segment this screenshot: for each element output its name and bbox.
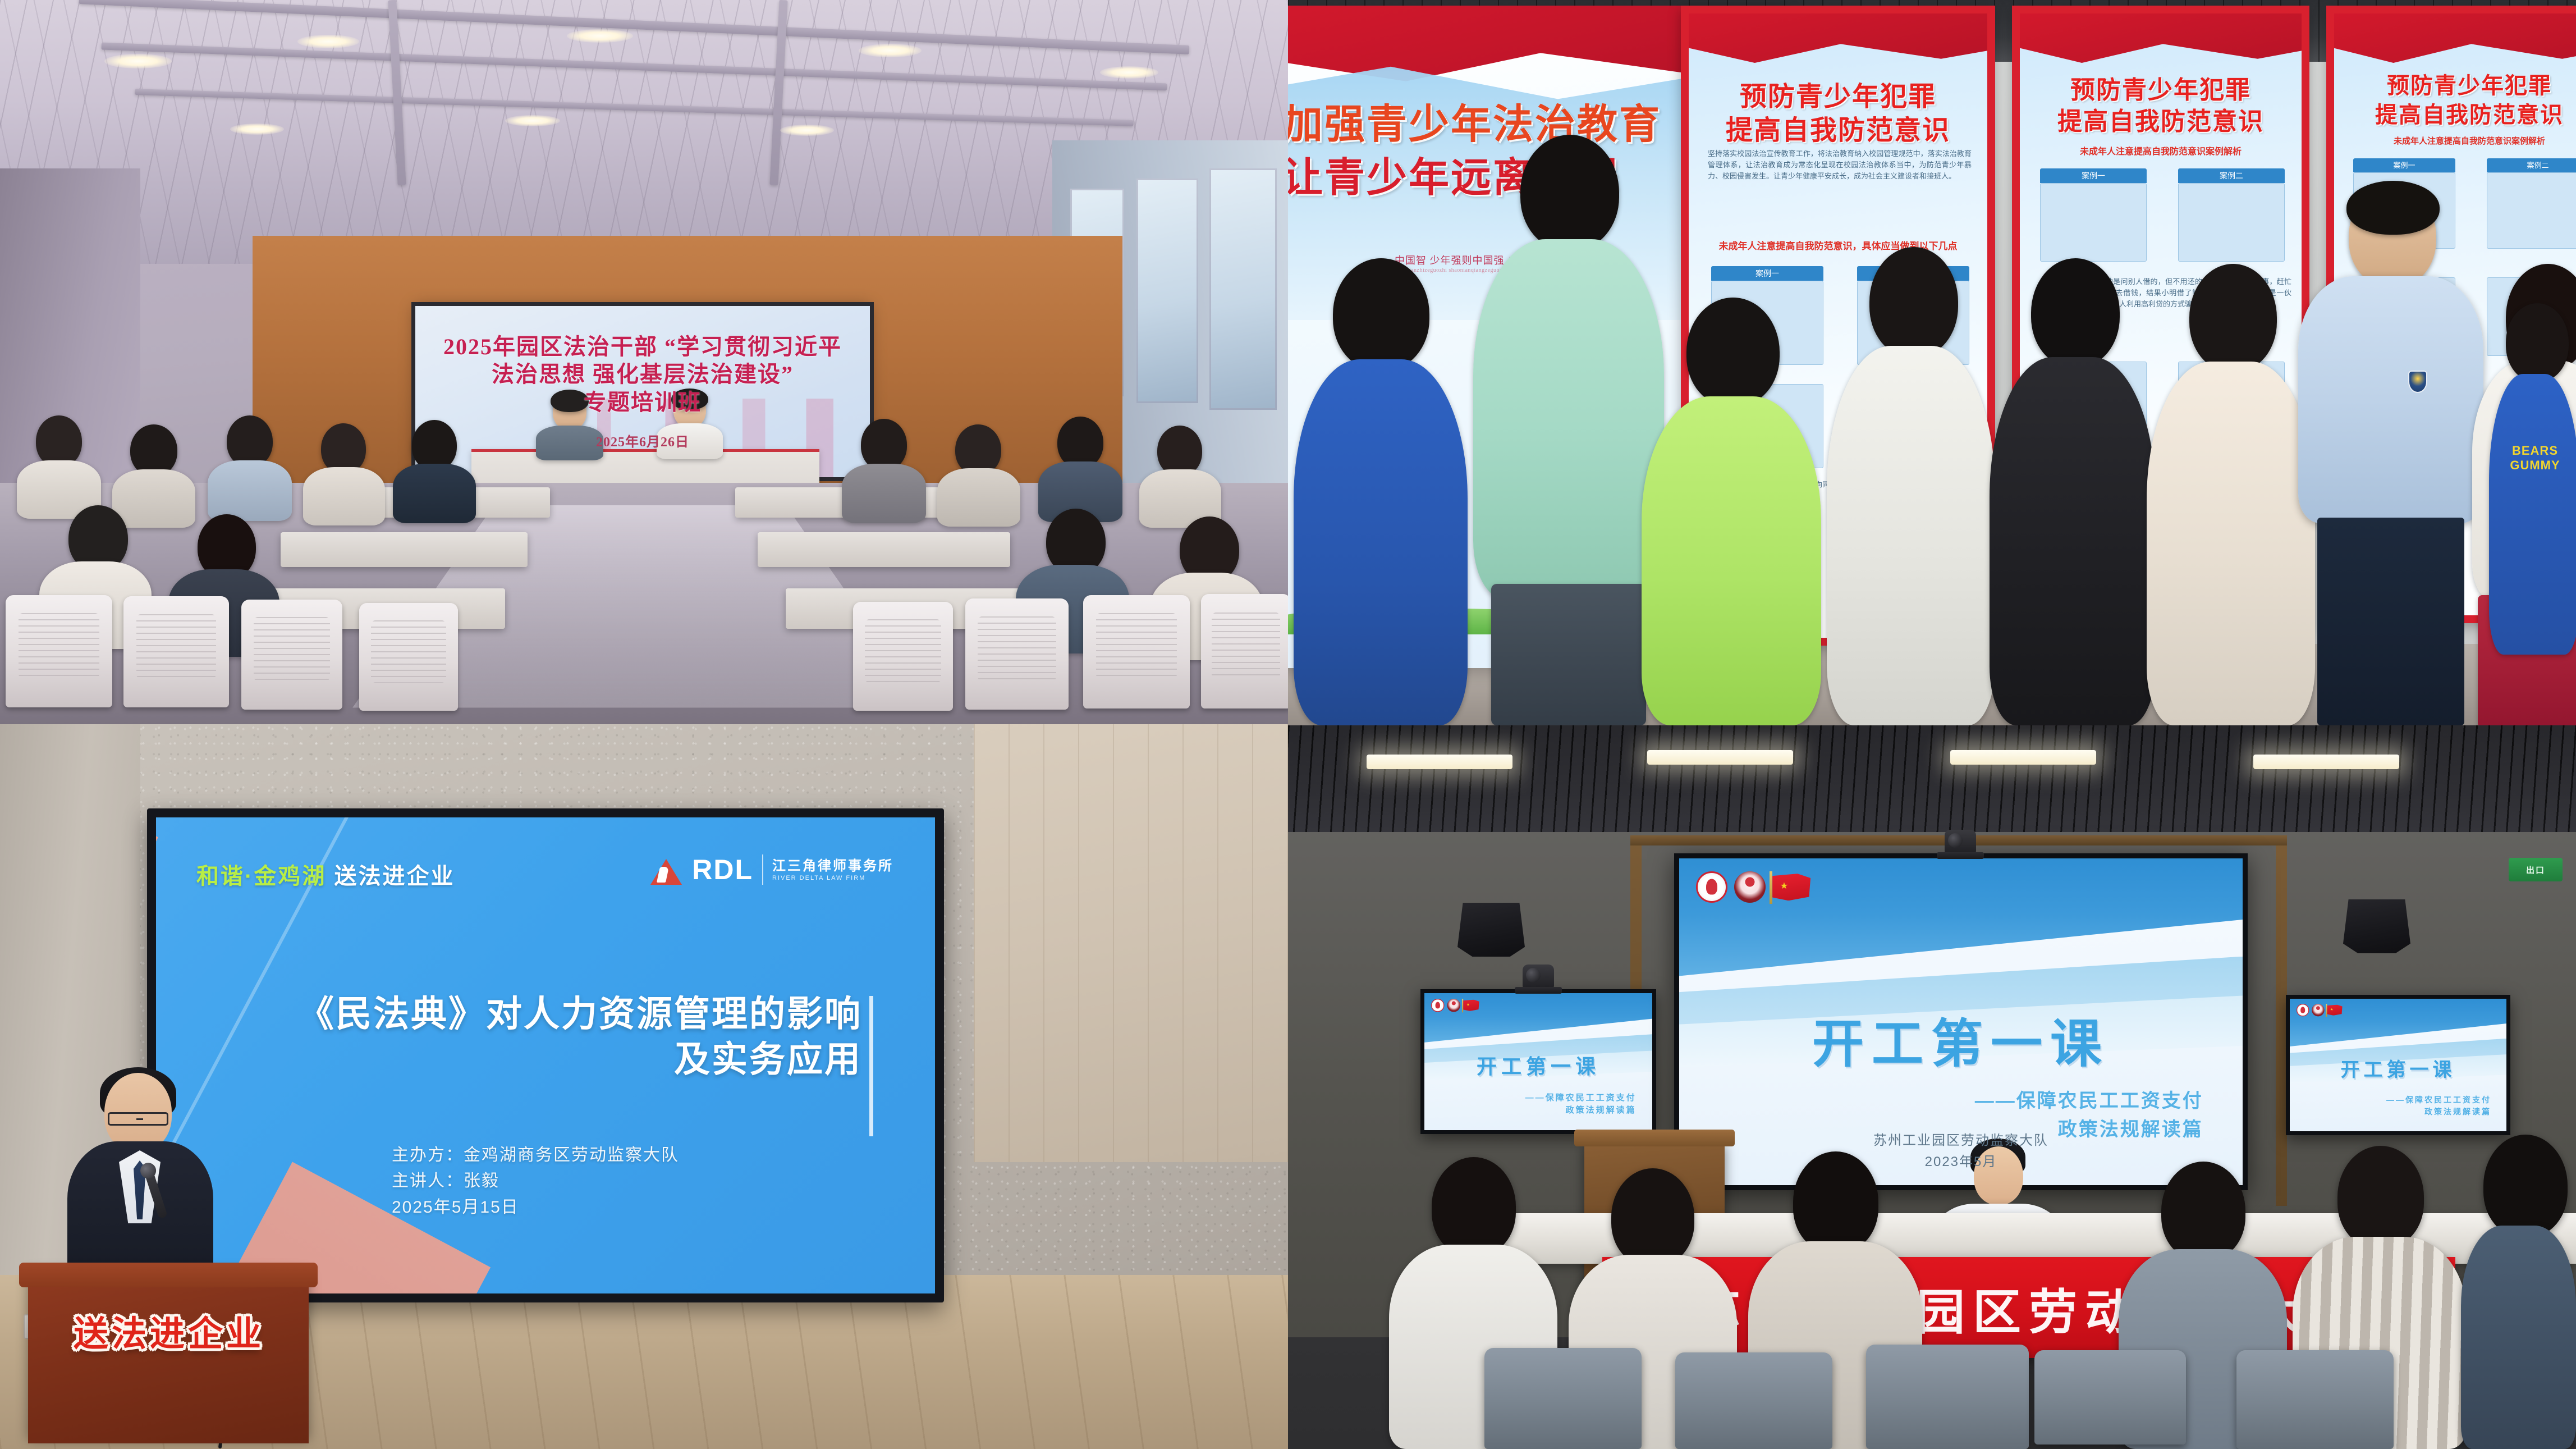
photo-panel-training-classroom: 2025年园区法治干部 “学习贯彻习近平 法治思想 强化基层法治建设” 专题培训… (0, 0, 1288, 724)
side-slide-subtitle: ——保障农民工工资支付 政策法规解读篇 (2386, 1094, 2491, 1118)
side-slide-title: 开工第一课 (2290, 1054, 2506, 1082)
side-screen-left: ★ 开工第一课 ——保障农民工工资支付 政策法规解读篇 (1420, 989, 1656, 1134)
poster-section-bar: 未成年人注意提高自我防范意识案例解析 (2020, 144, 2302, 157)
person-head (2506, 303, 2569, 382)
audience-table (758, 532, 1010, 567)
ptz-camera-icon (1523, 965, 1554, 988)
window (1209, 168, 1277, 410)
ceiling-light (230, 124, 284, 135)
person-head (412, 420, 457, 470)
chair-back (1675, 1352, 1832, 1449)
person-body (536, 426, 603, 460)
person-body (2147, 362, 2315, 725)
screen-title-line-2: 法治思想 强化基层法治建设” (443, 360, 842, 388)
side-slide-subtitle: ——保障农民工工资支付 政策法规解读篇 (1525, 1092, 1637, 1117)
officer-uniform-shirt (2298, 276, 2483, 523)
slide-title-line-2: 及实务应用 (298, 1037, 862, 1082)
harmony-flower-icon (1447, 999, 1461, 1012)
poster-title-line-2: 提高自我防范意识 (2020, 101, 2302, 137)
person-body (842, 464, 926, 523)
gummy-shirt-text: BEARS GUMMY (2496, 444, 2574, 473)
person-head (861, 419, 907, 470)
ceiling-light (567, 29, 633, 43)
ceiling-speaker (1457, 903, 1525, 957)
audience-member (208, 415, 292, 519)
wood-trim (2276, 835, 2287, 1206)
chair-back (2034, 1350, 2186, 1445)
slide-tagline-white: 送法进企业 (334, 864, 455, 889)
chair (241, 600, 342, 710)
audience-member (842, 419, 926, 522)
police-officer (2298, 185, 2483, 725)
main-presentation-screen: ★ 开工第一课 ——保障农民工工资支付 政策法规解读篇 苏州工业园区劳动监察大队… (1674, 853, 2248, 1190)
slide-emblems: ★ (1696, 871, 1810, 903)
child-black-shirt (1990, 258, 2156, 725)
person-body (1990, 357, 2156, 725)
poster-title-line-2: 提高自我防范意识 (2334, 97, 2576, 129)
photo-panel-poster-exhibit: 加强青少年法治教育 让青少年远离犯罪 中国智 少年强则中国强 少年富则中国富 s… (1288, 0, 2576, 725)
ceiling-light (505, 115, 560, 126)
poster-case-image (2040, 183, 2147, 262)
person-head (1333, 258, 1429, 371)
slide-meta-speaker: 主讲人：张毅 (392, 1168, 679, 1195)
chair (853, 602, 953, 711)
slide-title: 《民法典》对人力资源管理的影响 及实务应用 (298, 991, 862, 1082)
logo-english-name: RIVER DELTA LAW FIRM (772, 875, 893, 881)
child-cream-shirt (2147, 264, 2315, 725)
person-body (1473, 239, 1664, 598)
wood-wall-panel (974, 724, 1288, 1162)
chair (1083, 595, 1190, 708)
hrss-seal-icon (1696, 871, 1727, 903)
ceiling-light (1647, 750, 1793, 765)
rdl-triangle-icon (650, 854, 683, 885)
child-green-shirt (1642, 298, 1821, 725)
china-flag-icon: ★ (2327, 1005, 2342, 1016)
person-head (955, 424, 1001, 475)
police-badge-icon (2408, 371, 2427, 393)
person-head (2483, 1135, 2568, 1237)
logo-names: 江三角律师事务所 RIVER DELTA LAW FIRM (772, 858, 893, 881)
chair (6, 595, 112, 707)
poster-case-header: 案例二 (2178, 168, 2285, 183)
slide-meta-organizer: 主办方：金鸡湖商务区劳动监察大队 (392, 1142, 679, 1169)
ceiling-light (1100, 66, 1158, 79)
child-white-shirt (1827, 247, 1995, 725)
person-head (1611, 1168, 1694, 1266)
presentation-slide: 和谐·金鸡湖 送法进企业 RDL 江三角律师事务所 RIVER DELTA LA… (156, 817, 935, 1293)
china-flag-icon: ★ (1772, 874, 1810, 901)
audience-member (2461, 1135, 2576, 1449)
audience-member (1139, 426, 1221, 527)
chair (359, 603, 458, 711)
slide-meta: 主办方：金鸡湖商务区劳动监察大队 主讲人：张毅 2025年5月15日 (392, 1142, 679, 1221)
slide-title-rule (869, 996, 873, 1136)
window (1136, 179, 1198, 403)
person-head (2031, 258, 2120, 367)
slide-title-line-1: 《民法典》对人力资源管理的影响 (298, 991, 862, 1037)
audience-member (303, 423, 385, 524)
poster-case-header: 案例一 (2040, 168, 2147, 183)
exit-sign: 出口 (2509, 858, 2563, 881)
side-slide: ★ 开工第一课 ——保障农民工工资支付 政策法规解读篇 (2290, 999, 2506, 1131)
podium: 送法进企业 (28, 1275, 309, 1443)
audience-member (1038, 417, 1122, 521)
person-body (937, 468, 1020, 527)
logo-abbreviation: RDL (692, 856, 753, 884)
person-head (2337, 1146, 2424, 1248)
person-head (1157, 426, 1202, 476)
poster-title-line-2: 提高自我防范意识 (1689, 108, 1987, 147)
slide-emblems: ★ (2297, 1004, 2343, 1016)
screen-date: 2025年6月26日 (596, 431, 689, 450)
main-slide: ★ 开工第一课 ——保障农民工工资支付 政策法规解读篇 苏州工业园区劳动监察大队… (1679, 858, 2243, 1185)
poster-case-image (2487, 172, 2576, 249)
person-head (1057, 417, 1103, 468)
law-firm-logo: RDL 江三角律师事务所 RIVER DELTA LAW FIRM (650, 854, 893, 885)
podium-sign-text: 送法进企业 (48, 1305, 290, 1356)
ptz-camera-icon (1945, 830, 1976, 853)
audience-member (17, 415, 101, 516)
side-slide: ★ 开工第一课 ——保障农民工工资支付 政策法规解读篇 (1424, 993, 1652, 1130)
person-head (2189, 264, 2277, 372)
person-body (1642, 396, 1821, 725)
person-head (130, 424, 177, 476)
chair-back (1484, 1348, 1642, 1449)
harmony-flower-icon (1734, 871, 1766, 903)
poster-title-line-1: 预防青少年犯罪 (2334, 67, 2576, 100)
poster-section-bar: 未成年人注意提高自我防范意识案例解析 (2334, 135, 2576, 147)
poster-case-header: 案例二 (2487, 158, 2576, 172)
audience-table (281, 532, 528, 567)
china-flag-icon: ★ (1463, 999, 1479, 1011)
screen-title-line-1: 2025年园区法治干部 “学习贯彻习近平 (443, 333, 842, 361)
side-slide-title: 开工第一课 (1424, 1050, 1652, 1080)
slide-date: 2023年5月 (1679, 1151, 2243, 1172)
ceiling-light (1367, 755, 1512, 769)
person-head (227, 415, 273, 467)
chair-back (2236, 1350, 2394, 1449)
person-body (208, 460, 292, 521)
person-body (1294, 359, 1468, 725)
subtitle-line-1: ——保障农民工工资支付 (1975, 1087, 2203, 1116)
child-blue-shirt (1294, 258, 1468, 725)
side-screen-right: ★ 开工第一课 ——保障农民工工资支付 政策法规解读篇 (2286, 995, 2510, 1135)
person-head (1432, 1157, 1516, 1256)
chair (965, 598, 1069, 710)
hrss-seal-icon (1431, 999, 1445, 1012)
harmony-flower-icon (2312, 1004, 2324, 1016)
person-head (1686, 298, 1780, 406)
chair-back (1866, 1345, 2029, 1449)
person-body (2461, 1226, 2576, 1449)
chair (123, 596, 229, 707)
audience-member (393, 420, 476, 522)
person-body (1827, 346, 1995, 725)
poster-body-text: 坚持落实校园法治宣传教育工作，将法治教育纳入校园管理规范中，落实法治教育管理体系… (1708, 148, 1972, 182)
child-mint-shirt (1473, 135, 1664, 725)
ceiling-light (297, 35, 359, 48)
glasses-icon (108, 1112, 168, 1126)
person-hair (2346, 181, 2440, 235)
photo-panel-wage-policy-briefing: 出口 ★ 开工第一课 ——保障农民工工资支付 政策法规解读篇 (1288, 725, 2576, 1449)
person-body (2489, 374, 2576, 655)
person-head (1520, 135, 1619, 250)
ceiling-light (780, 125, 834, 136)
ceiling-light (859, 44, 922, 57)
photo-collage: 2025年园区法治干部 “学习贯彻习近平 法治思想 强化基层法治建设” 专题培训… (0, 0, 2576, 1449)
main-slide-title: 开工第一课 (1679, 1002, 2243, 1077)
screen-title-line-3: 专题培训班 (443, 388, 842, 417)
person-body (303, 467, 385, 525)
podium-top (19, 1263, 318, 1287)
poster-title-line-1: 预防青少年犯罪 (2020, 70, 2302, 106)
person-head (36, 415, 82, 467)
photo-panel-enterprise-lecture: 和谐·金鸡湖 送法进企业 RDL 江三角律师事务所 RIVER DELTA LA… (0, 724, 1288, 1449)
ceiling (1288, 725, 2576, 838)
officer-trousers (2317, 518, 2464, 725)
child-gummy-shirt: BEARS GUMMY (2489, 303, 2576, 725)
projection-screen-frame: 和谐·金鸡湖 送法进企业 RDL 江三角律师事务所 RIVER DELTA LA… (147, 808, 944, 1302)
poster-case-header: 案例一 (1711, 266, 1823, 281)
poster-case-image (2178, 183, 2285, 262)
logo-chinese-name: 江三角律师事务所 (772, 858, 893, 875)
person-head (321, 423, 366, 474)
main-slide-org: 苏州工业园区劳动监察大队 2023年5月 (1679, 1130, 2243, 1172)
poster-case-header: 案例一 (2353, 158, 2455, 172)
slide-tagline: 和谐·金鸡湖 送法进企业 (196, 858, 455, 890)
ceiling-light (1950, 750, 2096, 765)
hrss-seal-icon (2297, 1004, 2309, 1016)
chair (1201, 594, 1288, 708)
ceiling-speaker (2343, 899, 2410, 953)
logo-divider (762, 854, 763, 885)
slide-meta-date: 2025年5月15日 (392, 1195, 679, 1221)
audience-member (937, 424, 1020, 525)
slide-org-name: 苏州工业园区劳动监察大队 (1679, 1130, 2243, 1151)
ceiling-light (104, 54, 172, 68)
person-body (393, 464, 476, 523)
person-head (2161, 1162, 2245, 1260)
person-shorts (1491, 584, 1646, 725)
slide-emblems: ★ (1431, 999, 1479, 1012)
slide-tagline-green: 和谐·金鸡湖 (196, 864, 326, 889)
ceiling-light (2253, 755, 2399, 769)
screen-title: 2025年园区法治干部 “学习贯彻习近平 法治思想 强化基层法治建设” 专题培训… (443, 333, 842, 417)
person-head (1869, 247, 1958, 357)
